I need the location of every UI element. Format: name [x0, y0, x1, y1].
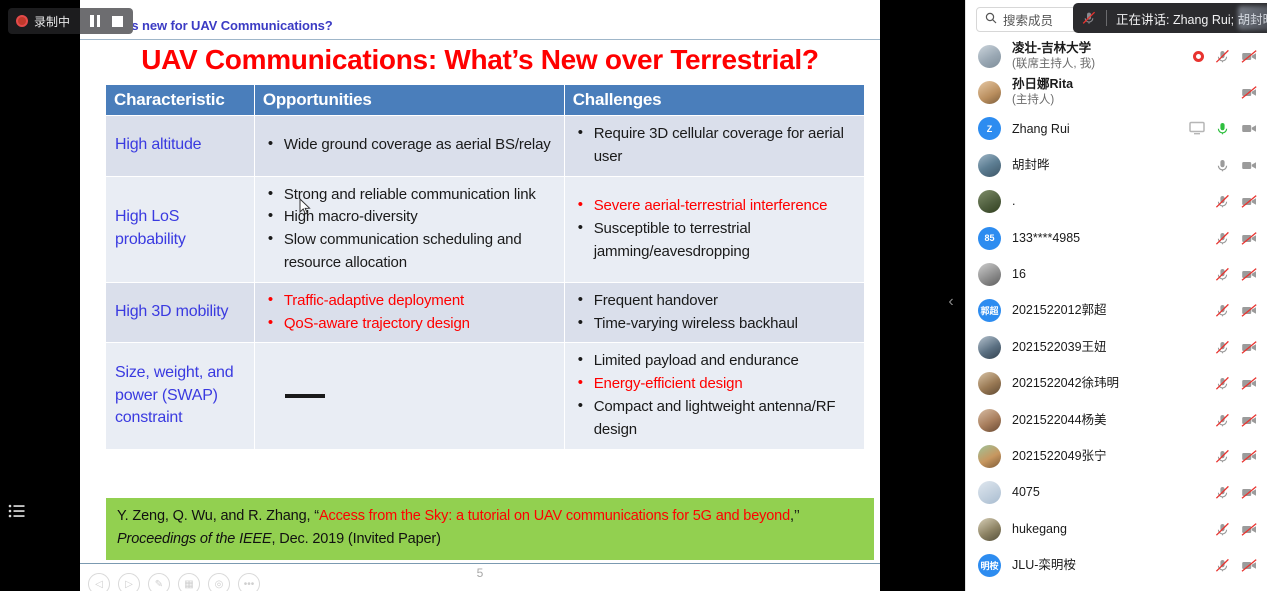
- video-muted-icon[interactable]: [1241, 49, 1256, 64]
- bullet: Wide ground coverage as aerial BS/relay: [264, 134, 555, 157]
- all-slides-button[interactable]: ▦: [178, 573, 200, 591]
- citation-journal: Proceedings of the IEEE: [117, 531, 272, 547]
- avatar: [978, 81, 1001, 104]
- shared-screen-stage: What's new for UAV Communications? UAV C…: [0, 0, 965, 591]
- participant-name: 胡封晔: [1012, 157, 1215, 174]
- video-muted-icon[interactable]: [1241, 231, 1256, 246]
- list-item[interactable]: 胡封晔: [966, 147, 1267, 183]
- list-icon[interactable]: [6, 500, 28, 522]
- participant-name-block: JLU-栾明桉: [1012, 557, 1215, 574]
- toast-divider: [1106, 10, 1107, 26]
- video-muted-icon[interactable]: [1241, 267, 1256, 282]
- avatar: [978, 336, 1001, 359]
- bullet: Slow communication scheduling and resour…: [264, 229, 555, 275]
- participant-icons: [1215, 340, 1256, 355]
- participant-name: 2021522039王妞: [1012, 339, 1215, 356]
- participant-name: 4075: [1012, 484, 1215, 501]
- participant-icons: [1215, 522, 1256, 537]
- participant-icons: [1215, 413, 1256, 428]
- em-dash-mark: [285, 394, 325, 398]
- mic-active-icon[interactable]: [1215, 121, 1230, 136]
- stop-icon[interactable]: [112, 16, 123, 27]
- mic-muted-icon[interactable]: [1215, 449, 1230, 464]
- table-row: High 3D mobility Traffic-adaptive deploy…: [106, 283, 864, 343]
- participant-role: (主持人): [1012, 93, 1241, 109]
- cell-opportunities: Traffic-adaptive deployment QoS-aware tr…: [255, 283, 564, 343]
- video-off-icon[interactable]: [1241, 158, 1256, 173]
- participants-list[interactable]: 凌壮-吉林大学 (联席主持人, 我) 孙日娜Rita: [966, 38, 1267, 591]
- participant-name-block: 2021522044杨美: [1012, 412, 1215, 429]
- participant-icons: [1215, 194, 1256, 209]
- video-muted-icon[interactable]: [1241, 522, 1256, 537]
- table-header-row: Characteristic Opportunities Challenges: [106, 85, 864, 115]
- bullet-highlight: Severe aerial-terrestrial interference: [574, 195, 855, 218]
- participant-name-block: 孙日娜Rita (主持人): [1012, 76, 1241, 108]
- avatar: [978, 45, 1001, 68]
- bullet: Frequent handover: [574, 290, 855, 313]
- bullet: Limited payload and endurance: [574, 350, 855, 373]
- table-row: High LoS probability Strong and reliable…: [106, 177, 864, 282]
- list-item[interactable]: 2021522049张宁: [966, 438, 1267, 474]
- participant-name-block: hukegang: [1012, 521, 1215, 538]
- slide-title: UAV Communications: What’s New over Terr…: [80, 44, 880, 76]
- mouse-cursor: [299, 198, 311, 216]
- participant-name: hukegang: [1012, 521, 1215, 538]
- participant-role: (联席主持人, 我): [1012, 57, 1193, 73]
- pen-tool-button[interactable]: ✎: [148, 573, 170, 591]
- table-col-opportunities: Opportunities: [255, 85, 564, 115]
- mic-muted-icon[interactable]: [1215, 340, 1230, 355]
- participant-name: 2021522049张宁: [1012, 448, 1215, 465]
- participant-name-block: 2021522039王妞: [1012, 339, 1215, 356]
- chevron-left-icon[interactable]: ‹: [943, 292, 959, 312]
- list-item[interactable]: 2021522044杨美: [966, 402, 1267, 438]
- participant-name: 孙日娜Rita: [1012, 76, 1241, 93]
- mic-muted-icon[interactable]: [1215, 267, 1230, 282]
- search-placeholder: 搜索成员: [1003, 10, 1053, 29]
- list-item[interactable]: 明桉 JLU-栾明桉: [966, 547, 1267, 583]
- mic-on-icon[interactable]: [1215, 158, 1230, 173]
- avatar: Z: [978, 117, 1001, 140]
- bullet: Susceptible to terrestrial jamming/eaves…: [574, 218, 855, 264]
- participant-name: 16: [1012, 266, 1215, 283]
- participant-name-block: 胡封晔: [1012, 157, 1215, 174]
- pause-icon[interactable]: [90, 15, 101, 27]
- list-item[interactable]: 郭超 2021522012郭超: [966, 293, 1267, 329]
- table-col-challenges: Challenges: [565, 85, 864, 115]
- table-row: High altitude Wide ground coverage as ae…: [106, 116, 864, 176]
- mic-muted-icon[interactable]: [1215, 194, 1230, 209]
- avatar: [978, 409, 1001, 432]
- table-row: Size, weight, and power (SWAP) constrain…: [106, 343, 864, 448]
- search-icon: [985, 12, 997, 27]
- zoom-button[interactable]: ◎: [208, 573, 230, 591]
- bullet: Time-varying wireless backhaul: [574, 313, 855, 336]
- recording-bar: 录制中: [8, 8, 133, 34]
- citation-authors: Y. Zeng, Q. Wu, and R. Zhang, “: [117, 508, 319, 524]
- speaking-now-tooltip: 正在讲话: Zhang Rui; 胡封晔: [1073, 3, 1267, 33]
- video-muted-icon[interactable]: [1241, 85, 1256, 100]
- mic-muted-icon[interactable]: [1215, 303, 1230, 318]
- next-slide-button[interactable]: ▷: [118, 573, 140, 591]
- cell-characteristic: High altitude: [106, 116, 254, 176]
- participant-name-block: 133****4985: [1012, 230, 1215, 247]
- table-body: High altitude Wide ground coverage as ae…: [106, 116, 864, 449]
- cell-challenges: Limited payload and endurance Energy-eff…: [565, 343, 864, 448]
- avatar: 明桉: [978, 554, 1001, 577]
- participant-icons: [1215, 376, 1256, 391]
- mic-muted-icon[interactable]: [1215, 231, 1230, 246]
- bullet-highlight: Energy-efficient design: [574, 373, 855, 396]
- mic-muted-icon[interactable]: [1215, 485, 1230, 500]
- table-head: Characteristic Opportunities Challenges: [106, 85, 864, 115]
- participant-name: Zhang Rui: [1012, 121, 1189, 138]
- participant-name-block: 4075: [1012, 484, 1215, 501]
- panel-search-row: 搜索成员 正在讲话: Zhang Rui; 胡封晔: [966, 0, 1267, 38]
- participant-name-block: 2021522012郭超: [1012, 302, 1215, 319]
- recording-controls: [80, 8, 133, 34]
- citation-banner: Y. Zeng, Q. Wu, and R. Zhang, “Access fr…: [106, 498, 874, 560]
- table-col-characteristic: Characteristic: [106, 85, 254, 115]
- video-muted-icon[interactable]: [1241, 485, 1256, 500]
- list-item[interactable]: 85 133****4985: [966, 220, 1267, 256]
- participant-icons: [1215, 449, 1256, 464]
- participant-icons: [1189, 121, 1256, 136]
- cell-challenges: Severe aerial-terrestrial interference S…: [565, 177, 864, 282]
- avatar: [978, 481, 1001, 504]
- video-off-icon[interactable]: [1241, 121, 1256, 136]
- mic-muted-icon[interactable]: [1215, 49, 1230, 64]
- citation-title: Access from the Sky: a tutorial on UAV c…: [319, 508, 790, 524]
- cell-challenges: Frequent handover Time-varying wireless …: [565, 283, 864, 343]
- video-muted-icon[interactable]: [1241, 340, 1256, 355]
- participant-icons: [1215, 158, 1256, 173]
- share-screen-icon[interactable]: [1189, 121, 1204, 136]
- list-item[interactable]: Z Zhang Rui: [966, 111, 1267, 147]
- recording-indicator-icon: [1193, 51, 1204, 62]
- left-rail: [0, 0, 80, 591]
- blurred-overlay: [1238, 6, 1267, 30]
- mic-muted-icon: [1082, 11, 1097, 26]
- participant-name: 2021522044杨美: [1012, 412, 1215, 429]
- record-dot-icon: [16, 15, 28, 27]
- list-item[interactable]: 2021522042徐玮明: [966, 366, 1267, 402]
- bullet: Require 3D cellular coverage for aerial …: [574, 123, 855, 169]
- participant-icons: [1215, 303, 1256, 318]
- citation-tail: , Dec. 2019 (Invited Paper): [272, 531, 441, 547]
- participant-icons: [1241, 85, 1256, 100]
- list-item[interactable]: 2021522039王妞: [966, 329, 1267, 365]
- participant-icons: [1215, 267, 1256, 282]
- cell-characteristic: Size, weight, and power (SWAP) constrain…: [106, 343, 254, 448]
- avatar: [978, 154, 1001, 177]
- avatar: 85: [978, 227, 1001, 250]
- participant-icons: [1215, 485, 1256, 500]
- mic-muted-icon[interactable]: [1215, 376, 1230, 391]
- citation-sep: ,’’: [790, 508, 799, 524]
- cell-opportunities: Strong and reliable communication link H…: [255, 177, 564, 282]
- participant-icons: [1215, 558, 1256, 573]
- participant-name-block: Zhang Rui: [1012, 121, 1189, 138]
- participant-icons: [1193, 49, 1256, 64]
- participant-name-block: 凌壮-吉林大学 (联席主持人, 我): [1012, 40, 1193, 72]
- list-item[interactable]: 16: [966, 256, 1267, 292]
- list-item[interactable]: 孙日娜Rita (主持人): [966, 74, 1267, 110]
- cell-challenges: Require 3D cellular coverage for aerial …: [565, 116, 864, 176]
- prev-slide-button[interactable]: ◁: [88, 573, 110, 591]
- participant-name: .: [1012, 193, 1215, 210]
- recording-label: 录制中: [34, 13, 70, 30]
- mic-muted-icon[interactable]: [1215, 413, 1230, 428]
- presenter-controls: ◁ ▷ ✎ ▦ ◎ •••: [88, 573, 260, 591]
- participant-name: 凌壮-吉林大学: [1012, 40, 1193, 57]
- participant-name-block: 2021522049张宁: [1012, 448, 1215, 465]
- slide-footer-divider: [80, 563, 880, 564]
- video-muted-icon[interactable]: [1241, 194, 1256, 209]
- participants-panel: 搜索成员 正在讲话: Zhang Rui; 胡封晔: [965, 0, 1267, 591]
- comparison-table: Characteristic Opportunities Challenges …: [105, 84, 865, 450]
- video-muted-icon[interactable]: [1241, 376, 1256, 391]
- participant-name-block: 2021522042徐玮明: [1012, 375, 1215, 392]
- participant-name: JLU-栾明桉: [1012, 557, 1215, 574]
- bullet-highlight: QoS-aware trajectory design: [264, 313, 555, 336]
- slide-section-header: What's new for UAV Communications?: [80, 18, 880, 40]
- more-options-button[interactable]: •••: [238, 573, 260, 591]
- cell-opportunities: Wide ground coverage as aerial BS/relay: [255, 116, 564, 176]
- mic-muted-icon[interactable]: [1215, 558, 1230, 573]
- cell-characteristic: High LoS probability: [106, 177, 254, 282]
- avatar: [978, 372, 1001, 395]
- cell-opportunities-empty: [255, 343, 564, 448]
- bullet: Compact and lightweight antenna/RF desig…: [574, 396, 855, 442]
- avatar: [978, 190, 1001, 213]
- video-muted-icon[interactable]: [1241, 413, 1256, 428]
- video-muted-icon[interactable]: [1241, 449, 1256, 464]
- participant-name-block: .: [1012, 193, 1215, 210]
- avatar: 郭超: [978, 299, 1001, 322]
- slide-canvas: What's new for UAV Communications? UAV C…: [80, 0, 880, 591]
- participant-icons: [1215, 231, 1256, 246]
- meeting-screen-share-window: What's new for UAV Communications? UAV C…: [0, 0, 1267, 591]
- video-muted-icon[interactable]: [1241, 558, 1256, 573]
- mic-muted-icon[interactable]: [1215, 522, 1230, 537]
- list-item[interactable]: .: [966, 184, 1267, 220]
- video-muted-icon[interactable]: [1241, 303, 1256, 318]
- avatar: [978, 445, 1001, 468]
- avatar: [978, 263, 1001, 286]
- participant-name: 2021522042徐玮明: [1012, 375, 1215, 392]
- list-item[interactable]: 4075: [966, 475, 1267, 511]
- list-item[interactable]: 凌壮-吉林大学 (联席主持人, 我): [966, 38, 1267, 74]
- recording-status: 录制中: [8, 8, 80, 34]
- list-item[interactable]: hukegang: [966, 511, 1267, 547]
- avatar: [978, 518, 1001, 541]
- bullet-highlight: Traffic-adaptive deployment: [264, 290, 555, 313]
- participant-name: 133****4985: [1012, 230, 1215, 247]
- participant-name: 2021522012郭超: [1012, 302, 1215, 319]
- participant-name-block: 16: [1012, 266, 1215, 283]
- cell-characteristic: High 3D mobility: [106, 283, 254, 343]
